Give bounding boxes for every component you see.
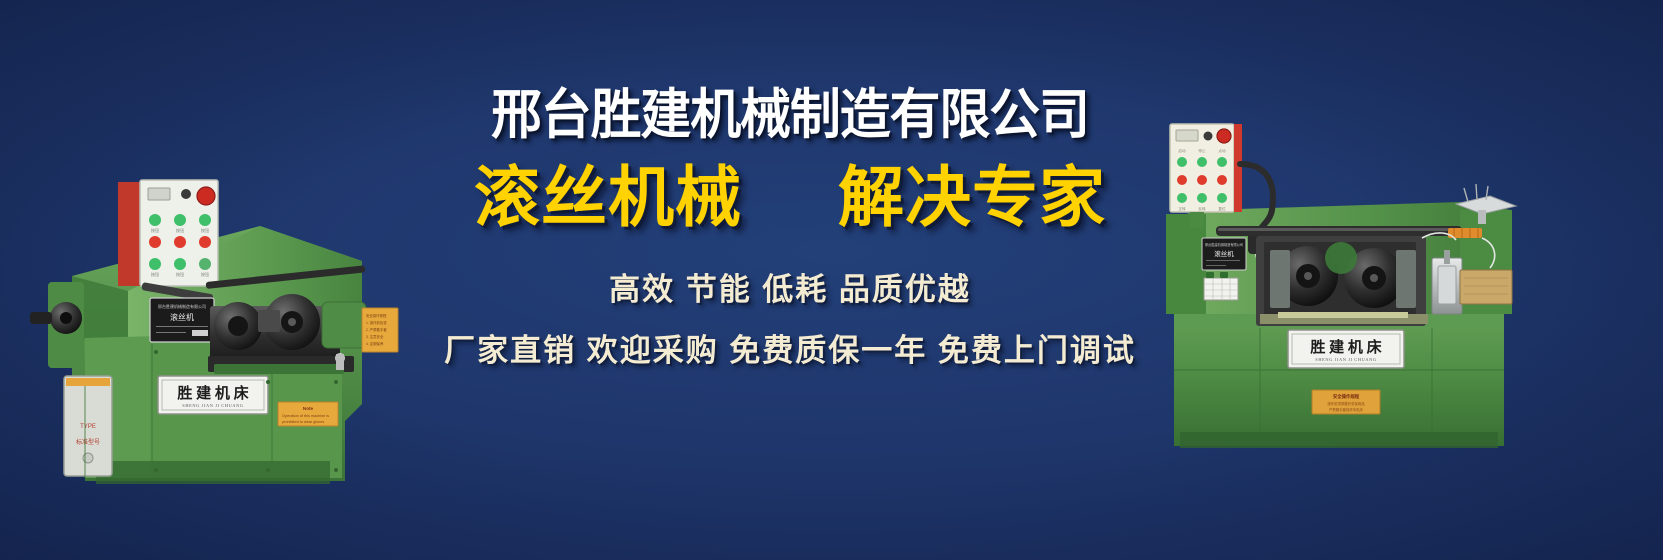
svg-text:安全操作规程: 安全操作规程 — [366, 313, 387, 318]
svg-text:2. 严禁戴手套: 2. 严禁戴手套 — [366, 327, 387, 332]
emergency-stop-button — [1217, 129, 1231, 143]
svg-text:邢台胜建机械制造有限公司: 邢台胜建机械制造有限公司 — [158, 303, 206, 309]
emergency-stop-button — [197, 187, 215, 205]
nameplate-en: SHENG JIAN JI CHUANG — [1315, 357, 1377, 362]
right-plate — [1460, 270, 1512, 304]
machine-illustration-right: 启动停止点动 正转反转复位 — [1160, 118, 1560, 458]
headline-right: 解决专家 — [838, 164, 1106, 230]
nameplate-cn: 胜 建 机 床 — [177, 384, 249, 402]
banner-text-block: 邢台胜建机械制造有限公司 滚丝机械 解决专家 高效 节能 低耗 品质优越 厂家直… — [390, 88, 1190, 370]
promo-banner: TYPE 标准型号 按钮按钮按钮 按钮按钮按钮 邢台胜建机械制造有限公司 — [0, 0, 1663, 560]
svg-text:prohibited to wear gloves: prohibited to wear gloves — [282, 420, 324, 424]
side-label-type: TYPE — [80, 424, 96, 430]
side-label-model: 标准型号 — [76, 438, 100, 446]
note-sticker-title: Note — [303, 406, 314, 411]
svg-text:复位: 复位 — [1218, 206, 1226, 211]
svg-text:按钮: 按钮 — [176, 271, 184, 277]
svg-text:停止: 停止 — [1198, 148, 1206, 153]
tagline-primary: 高效 节能 低耗 品质优越 — [390, 264, 1190, 309]
svg-text:点动: 点动 — [1218, 148, 1226, 153]
svg-text:操作前须穿戴好劳保用品: 操作前须穿戴好劳保用品 — [1327, 401, 1365, 406]
safety-sticker-title: 安全操作规程 — [1333, 393, 1360, 400]
headline-left: 滚丝机械 — [474, 164, 742, 230]
svg-text:Operation of this machine is: Operation of this machine is — [282, 414, 329, 418]
svg-text:按钮: 按钮 — [201, 227, 209, 233]
svg-text:按钮: 按钮 — [151, 271, 159, 277]
svg-text:1. 操作前检查: 1. 操作前检查 — [366, 320, 387, 325]
spec-plate-title: 滚丝机 — [170, 312, 194, 322]
headline-row: 滚丝机械 解决专家 — [390, 164, 1190, 230]
control-panel-column — [118, 182, 142, 286]
svg-text:按钮: 按钮 — [201, 271, 209, 277]
nameplate-cn: 胜 建 机 床 — [1310, 338, 1382, 356]
svg-text:按钮: 按钮 — [176, 227, 184, 233]
svg-text:严禁戴手套操作本机床: 严禁戴手套操作本机床 — [1329, 407, 1364, 412]
svg-text:按钮: 按钮 — [151, 227, 159, 233]
svg-text:反转: 反转 — [1198, 206, 1206, 211]
spec-plate-title: 滚丝机 — [1214, 249, 1234, 258]
nameplate-en: SHENG JIAN JI CHUANG — [182, 403, 244, 408]
svg-text:邢台胜建机械制造有限公司: 邢台胜建机械制造有限公司 — [1205, 242, 1243, 247]
svg-text:4. 定期保养: 4. 定期保养 — [366, 341, 384, 346]
svg-text:3. 注意安全: 3. 注意安全 — [366, 334, 384, 339]
tagline-secondary: 厂家直销 欢迎采购 免费质保一年 免费上门调试 — [390, 325, 1190, 370]
company-name: 邢台胜建机械制造有限公司 — [414, 88, 1166, 142]
machine-illustration-left: TYPE 标准型号 按钮按钮按钮 按钮按钮按钮 邢台胜建机械制造有限公司 — [10, 86, 410, 486]
